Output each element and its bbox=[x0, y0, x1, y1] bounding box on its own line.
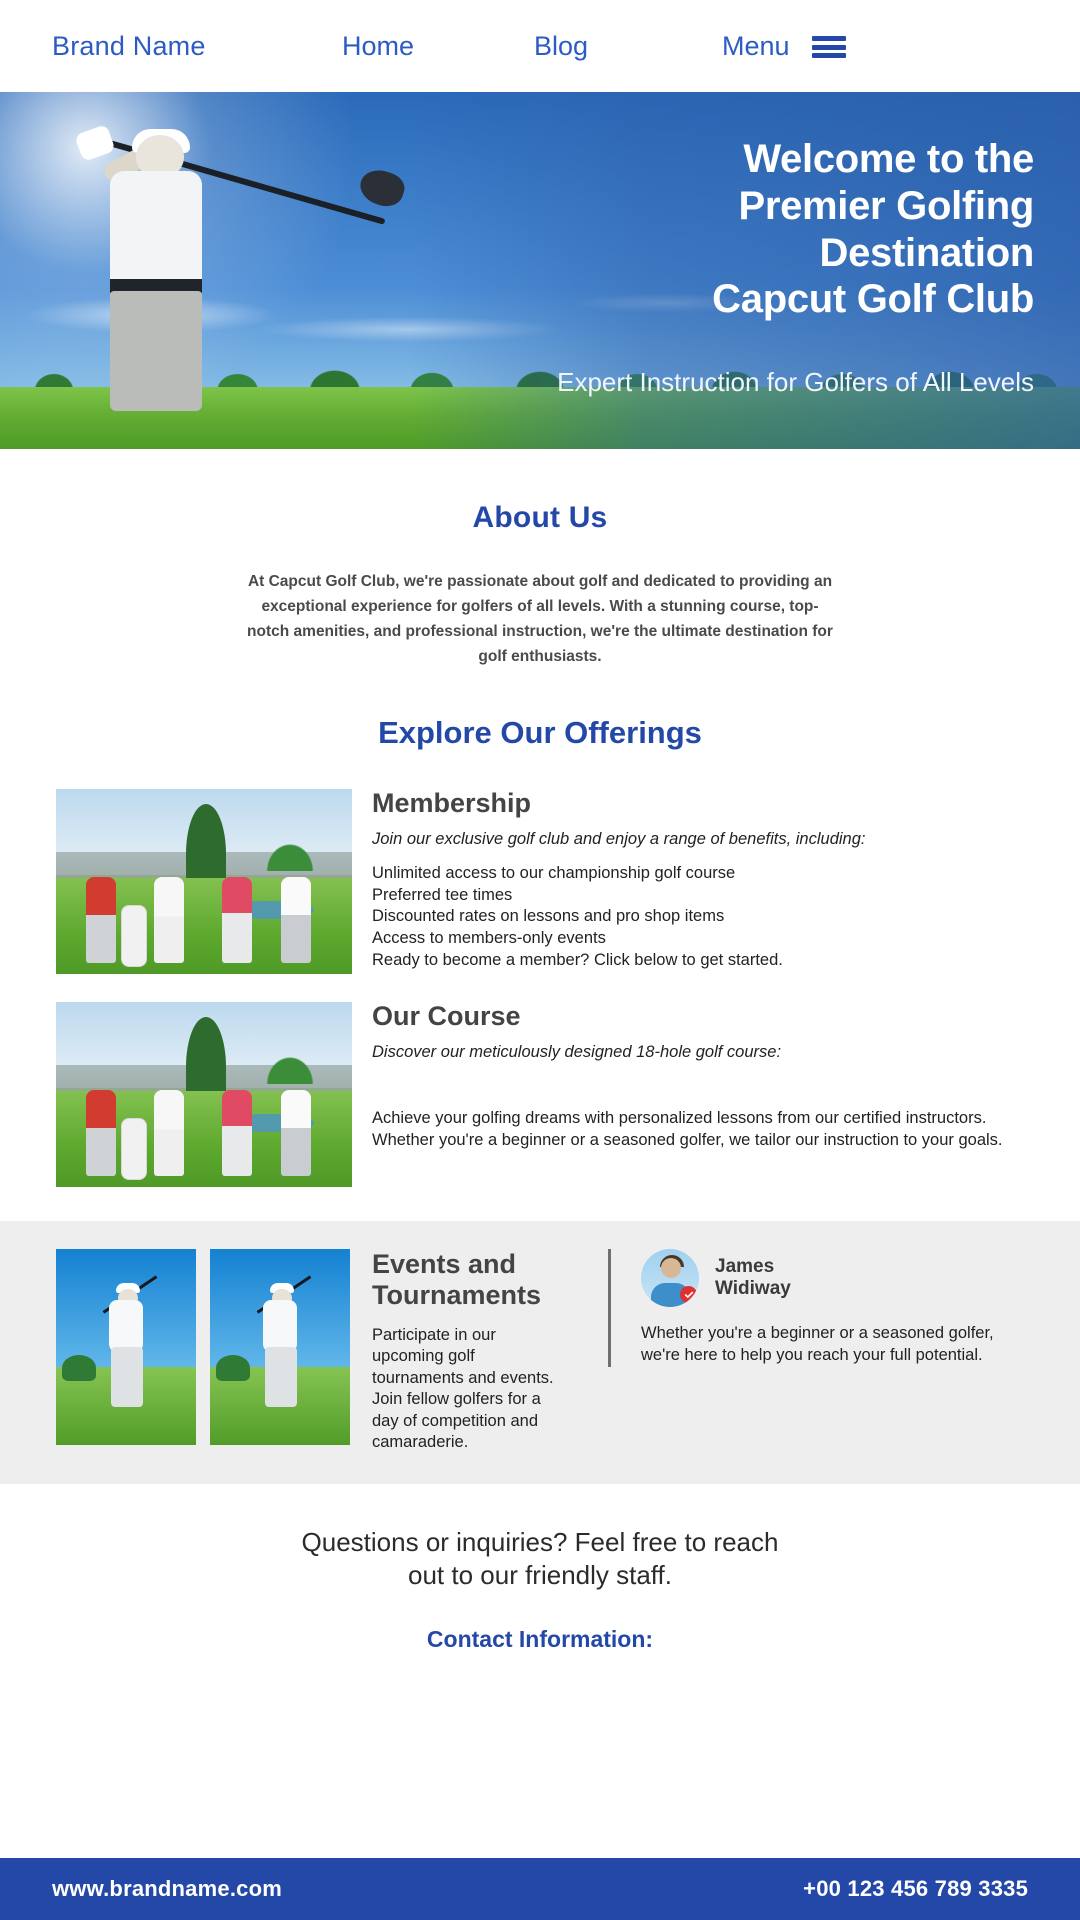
list-item: Ready to become a member? Click below to… bbox=[372, 950, 1024, 972]
photo-golfer-body bbox=[109, 1300, 143, 1352]
photo-golfer bbox=[86, 1090, 116, 1176]
testimonial-card: James Widiway Whether you're a beginner … bbox=[608, 1249, 1024, 1367]
events-text-block: Events and Tournaments Participate in ou… bbox=[350, 1249, 570, 1453]
hero-text-block: Welcome to the Premier Golfing Destinati… bbox=[474, 136, 1034, 399]
photo-golfer bbox=[281, 1090, 311, 1176]
photo-bush bbox=[216, 1355, 250, 1381]
photo-golfer bbox=[222, 1090, 252, 1176]
events-heading-line: Tournaments bbox=[372, 1280, 570, 1311]
photo-golfer-legs bbox=[265, 1347, 297, 1407]
photo-golfer bbox=[154, 1090, 184, 1176]
hamburger-bar bbox=[812, 45, 846, 50]
contact-question: Questions or inquiries? Feel free to rea… bbox=[0, 1526, 1080, 1593]
hero-title-line: Capcut Golf Club bbox=[474, 276, 1034, 323]
footer-phone-number[interactable]: +00 123 456 789 3335 bbox=[803, 1876, 1028, 1902]
events-paragraph: Participate in our upcoming golf tournam… bbox=[372, 1325, 570, 1454]
our-course-paragraph: Achieve your golfing dreams with persona… bbox=[372, 1108, 1024, 1152]
contact-section: Questions or inquiries? Feel free to rea… bbox=[0, 1484, 1080, 1654]
events-and-testimonial-band: Events and Tournaments Participate in ou… bbox=[0, 1221, 1080, 1483]
list-item: Discounted rates on lessons and pro shop… bbox=[372, 906, 1024, 928]
hero-title: Welcome to the Premier Golfing Destinati… bbox=[474, 136, 1034, 323]
contact-question-line: Questions or inquiries? Feel free to rea… bbox=[0, 1526, 1080, 1559]
golfer-shirt bbox=[110, 171, 202, 283]
nav-link-blog[interactable]: Blog bbox=[534, 31, 588, 62]
hero-title-line: Welcome to the bbox=[474, 136, 1034, 183]
golfer-pants bbox=[110, 291, 202, 411]
list-item: Preferred tee times bbox=[372, 885, 1024, 907]
event-photo-left bbox=[56, 1249, 196, 1445]
our-course-text: Our Course Discover our meticulously des… bbox=[352, 1002, 1024, 1151]
photo-palm bbox=[264, 1054, 316, 1084]
membership-heading: Membership bbox=[372, 789, 1024, 819]
testimonial-header: James Widiway bbox=[641, 1249, 1024, 1307]
our-course-lede: Discover our meticulously designed 18-ho… bbox=[372, 1042, 1024, 1064]
about-body-text: At Capcut Golf Club, we're passionate ab… bbox=[245, 569, 835, 669]
contact-information-heading: Contact Information: bbox=[0, 1626, 1080, 1653]
nav-menu-label[interactable]: Menu bbox=[722, 31, 790, 62]
photo-golfer bbox=[281, 877, 311, 963]
hamburger-bar bbox=[812, 36, 846, 41]
offering-membership: Membership Join our exclusive golf club … bbox=[0, 789, 1080, 974]
list-item: Access to members-only events bbox=[372, 928, 1024, 950]
testimonial-quote: Whether you're a beginner or a seasoned … bbox=[641, 1323, 1024, 1367]
hero-title-line: Premier Golfing bbox=[474, 183, 1034, 230]
contact-question-line: out to our friendly staff. bbox=[0, 1559, 1080, 1592]
offering-our-course: Our Course Discover our meticulously des… bbox=[0, 1002, 1080, 1187]
nav-link-home[interactable]: Home bbox=[342, 31, 414, 62]
photo-golfer bbox=[222, 877, 252, 963]
photo-palm bbox=[264, 841, 316, 871]
list-item: Unlimited access to our championship gol… bbox=[372, 863, 1024, 885]
hamburger-menu-icon[interactable] bbox=[812, 36, 846, 58]
top-navigation-bar: Brand Name Home Blog Menu bbox=[0, 0, 1080, 92]
photo-bush bbox=[62, 1355, 96, 1381]
about-section: About Us At Capcut Golf Club, we're pass… bbox=[0, 449, 1080, 669]
footer-bar: www.brandname.com +00 123 456 789 3335 bbox=[0, 1858, 1080, 1920]
avatar-face bbox=[661, 1258, 681, 1278]
photo-golfer-body bbox=[263, 1300, 297, 1352]
testimonial-name: James Widiway bbox=[715, 1256, 791, 1301]
brand-logo-text[interactable]: Brand Name bbox=[52, 31, 206, 62]
footer-website-link[interactable]: www.brandname.com bbox=[52, 1876, 282, 1902]
photo-golf-bag bbox=[121, 905, 147, 967]
photo-golfer bbox=[154, 877, 184, 963]
hero-banner: Welcome to the Premier Golfing Destinati… bbox=[0, 92, 1080, 449]
avatar bbox=[641, 1249, 699, 1307]
verified-badge-icon bbox=[680, 1286, 697, 1303]
explore-offerings-title: Explore Our Offerings bbox=[0, 715, 1080, 751]
hero-subtitle: Expert Instruction for Golfers of All Le… bbox=[474, 367, 1034, 399]
our-course-heading: Our Course bbox=[372, 1002, 1024, 1032]
photo-golfer bbox=[86, 877, 116, 963]
hero-title-line: Destination bbox=[474, 230, 1034, 277]
photo-golfer-legs bbox=[111, 1347, 143, 1407]
photo-golf-bag bbox=[121, 1118, 147, 1180]
about-title: About Us bbox=[0, 501, 1080, 535]
event-photo-right bbox=[210, 1249, 350, 1445]
membership-text: Membership Join our exclusive golf club … bbox=[352, 789, 1024, 971]
testimonial-name-line: James bbox=[715, 1256, 791, 1278]
membership-benefit-list: Unlimited access to our championship gol… bbox=[372, 863, 1024, 972]
events-heading-line: Events and bbox=[372, 1249, 570, 1280]
testimonial-name-line: Widiway bbox=[715, 1278, 791, 1300]
membership-lede: Join our exclusive golf club and enjoy a… bbox=[372, 829, 1024, 851]
events-heading: Events and Tournaments bbox=[372, 1249, 570, 1311]
membership-photo bbox=[56, 789, 352, 974]
golfer-swinging-image bbox=[92, 109, 232, 449]
our-course-photo bbox=[56, 1002, 352, 1187]
hamburger-bar bbox=[812, 53, 846, 58]
